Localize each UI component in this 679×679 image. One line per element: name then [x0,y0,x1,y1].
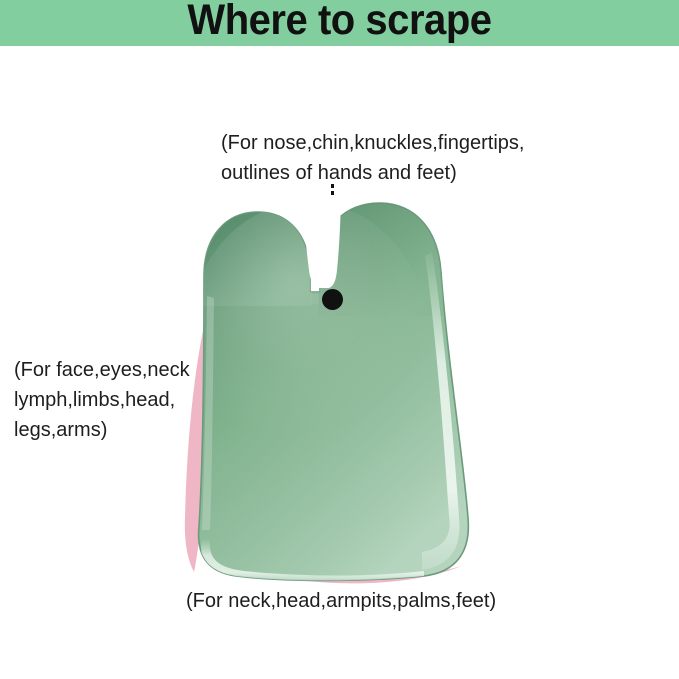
header-banner: Where to scrape [0,0,679,46]
infographic-page: Where to scrape [0,0,679,679]
marker-dot [322,289,343,310]
stone-notch [291,196,347,296]
callout-top-line-2: outlines of hands and feet) [221,158,524,188]
callout-bottom-line-1: (For neck,head,armpits,palms,feet) [186,586,496,616]
callout-left-line-2: lymph,limbs,head, [14,385,190,415]
callout-top-line-1: (For nose,chin,knuckles,fingertips, [221,128,524,158]
callout-left-line-3: legs,arms) [14,415,190,445]
page-title: Where to scrape [24,0,655,46]
callout-top: (For nose,chin,knuckles,fingertips, outl… [221,128,524,188]
callout-left: (For face,eyes,neck lymph,limbs,head, le… [14,355,190,445]
callout-left-line-1: (For face,eyes,neck [14,355,190,385]
callout-bottom: (For neck,head,armpits,palms,feet) [186,586,496,616]
